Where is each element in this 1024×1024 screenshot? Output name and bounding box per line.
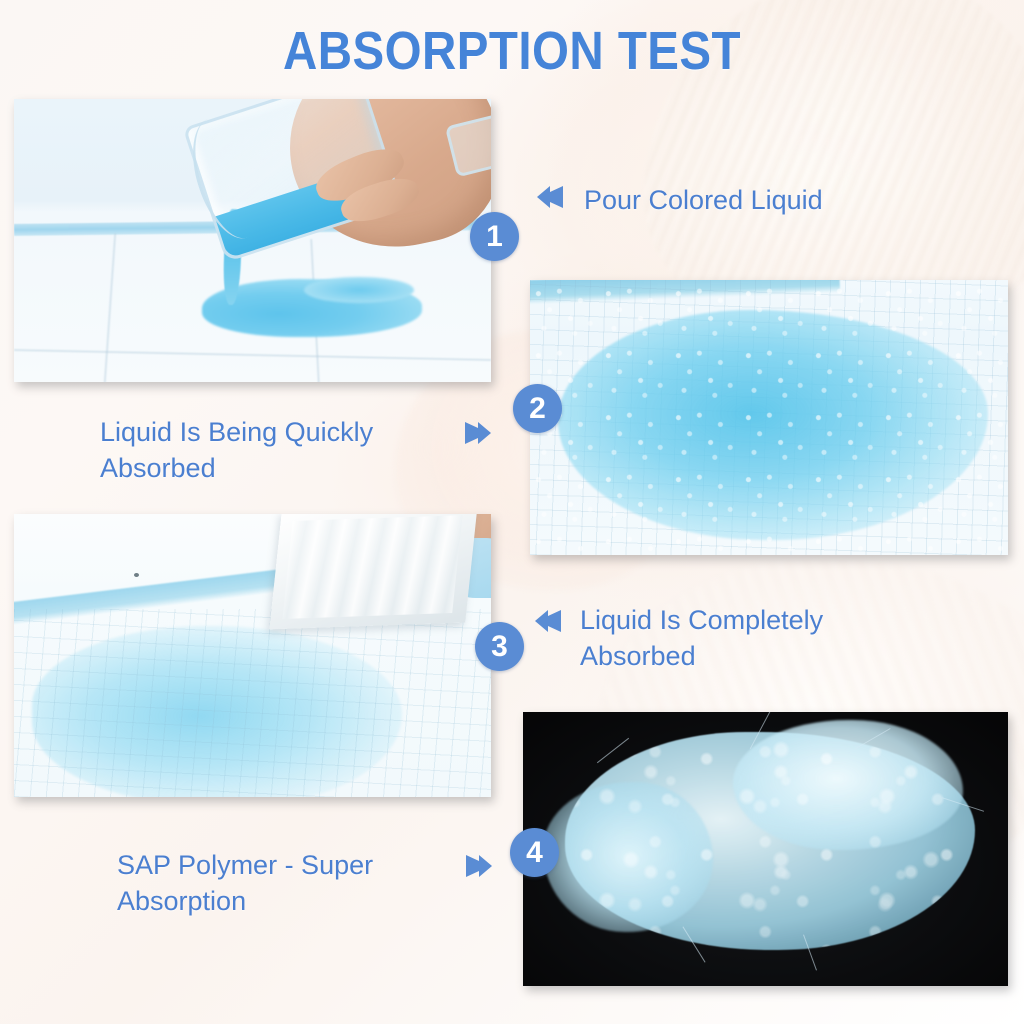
step-number-badge-2: 2	[513, 384, 562, 433]
step-number-badge-3: 3	[475, 622, 524, 671]
infographic-canvas: ABSORPTION TEST	[0, 0, 1024, 1024]
step-caption-3: Liquid Is Completely Absorbed	[580, 602, 980, 675]
tissue-folds	[282, 515, 462, 619]
fiber-speckle-texture	[530, 280, 1008, 555]
page-title: ABSORPTION TEST	[61, 20, 962, 82]
double-chevron-right-icon	[459, 420, 495, 446]
step-number-badge-4: 4	[510, 828, 559, 877]
tissue-dryness-test-photo	[14, 514, 491, 797]
step-number-badge-1: 1	[470, 212, 519, 261]
pouring-colored-liquid-photo	[14, 99, 491, 382]
double-chevron-left-icon	[531, 608, 567, 634]
white-tissue	[269, 514, 477, 629]
step-caption-2: Liquid Is Being Quickly Absorbed	[100, 414, 460, 487]
surface-speck	[134, 573, 139, 577]
step-caption-1: Pour Colored Liquid	[584, 182, 823, 218]
double-chevron-left-icon	[533, 184, 569, 210]
liquid-absorbing-photo	[530, 280, 1008, 555]
sap-polymer-gel-photo	[523, 712, 1008, 986]
pad-quilt-grid	[14, 609, 491, 797]
step-caption-4: SAP Polymer - Super Absorption	[117, 847, 467, 920]
liquid-puddle-spread	[304, 277, 414, 303]
